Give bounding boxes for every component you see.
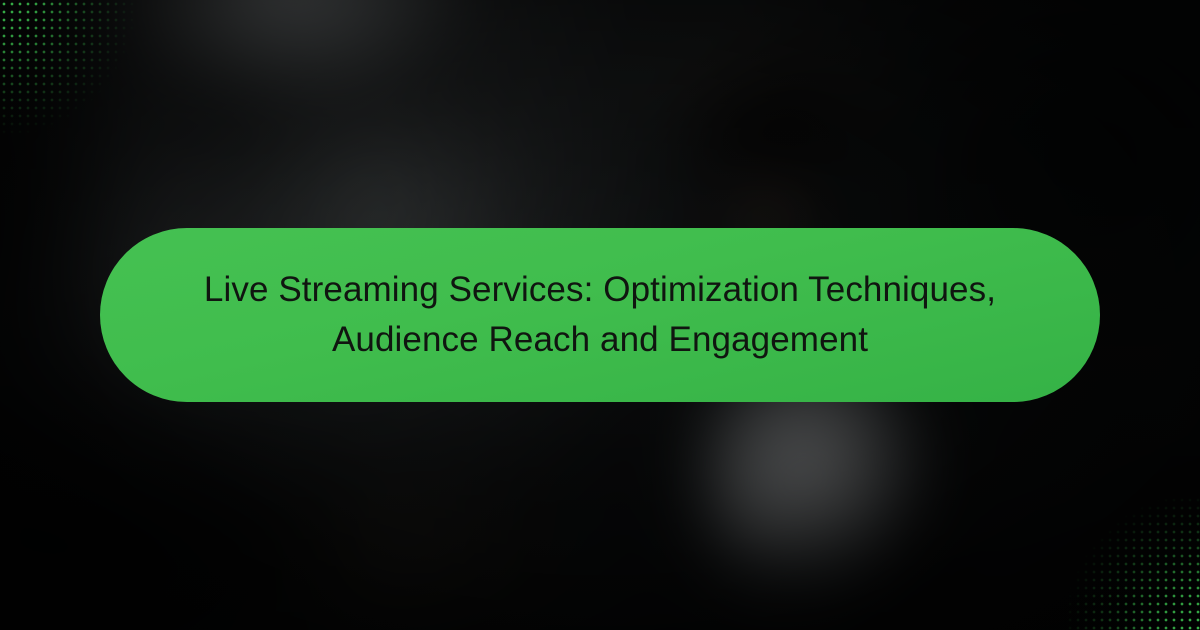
page-title: Live Streaming Services: Optimization Te…: [174, 265, 1026, 365]
title-pill-banner: Live Streaming Services: Optimization Te…: [100, 228, 1100, 402]
og-card: Live Streaming Services: Optimization Te…: [0, 0, 1200, 630]
